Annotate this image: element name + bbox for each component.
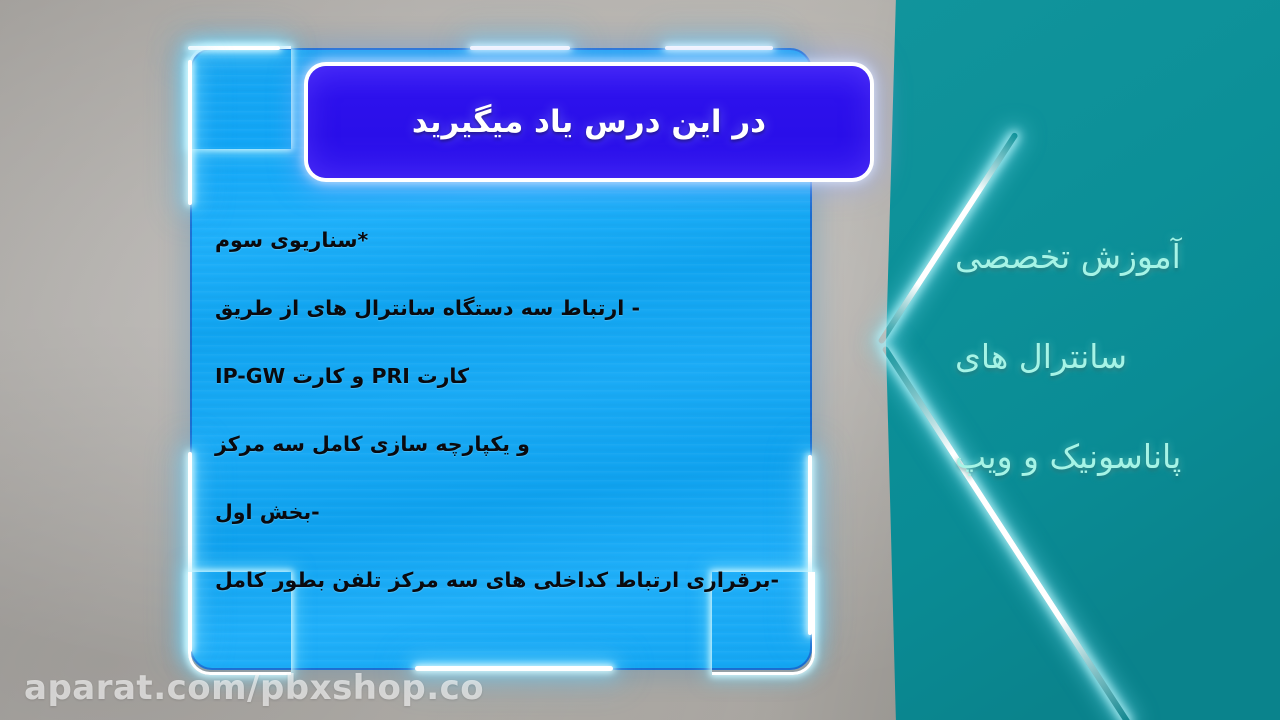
title-banner: در این درس یاد میگیرید <box>308 66 870 178</box>
card-glow-top-c <box>665 46 773 50</box>
bullet-item-3: کارت PRI و کارت IP-GW <box>215 342 770 410</box>
bullet-item-4: و یکپارچه سازی کامل سه مرکز <box>215 410 770 478</box>
side-panel-line-1: آموزش تخصصی <box>955 206 1255 306</box>
slide-canvas: آموزش تخصصی سانترال های پاناسونیک و ویپ … <box>0 0 1280 720</box>
watermark-text: aparat.com/pbxshop.co <box>24 668 484 708</box>
bullet-list: *سناریوی سوم - ارتباط سه دستگاه سانترال … <box>215 206 770 614</box>
bullet-item-2: - ارتباط سه دستگاه سانترال های از طریق <box>215 274 770 342</box>
card-glow-left-lower <box>188 452 192 652</box>
card-glow-left-upper <box>188 60 192 205</box>
card-glow-right-lower <box>808 455 812 635</box>
title-text: در این درس یاد میگیرید <box>412 104 766 140</box>
card-glow-top-a <box>188 46 280 50</box>
bullet-item-6: -برقراری ارتباط کداخلی های سه مرکز تلفن … <box>215 546 770 614</box>
side-panel-text-group: آموزش تخصصی سانترال های پاناسونیک و ویپ <box>955 206 1255 506</box>
side-panel-line-3: پاناسونیک و ویپ <box>955 406 1255 506</box>
bullet-item-5: -بخش اول <box>215 478 770 546</box>
bullet-item-1: *سناریوی سوم <box>215 206 770 274</box>
side-panel-line-2: سانترال های <box>955 306 1255 406</box>
card-glow-top-b <box>470 46 570 50</box>
